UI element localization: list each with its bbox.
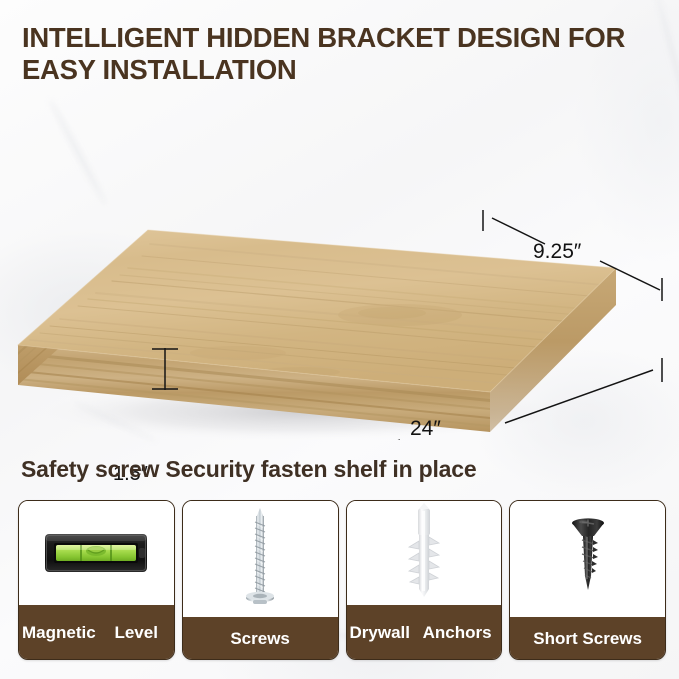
hardware-card-drywall-anchors[interactable]: Drywall Anchors (346, 500, 503, 660)
card-image-area (347, 501, 502, 605)
page-title-line-2: EASY INSTALLATION (22, 54, 667, 86)
page-title-line-1: INTELLIGENT HIDDEN BRACKET DESIGN FOR (22, 22, 667, 54)
card-image-area (510, 501, 665, 617)
card-label: Magnetic Level (19, 605, 174, 659)
card-label-line-1: Drywall (347, 623, 413, 642)
short-screw-icon (564, 514, 612, 604)
shelf-illustration: 9.25″ 24″ 1.5″ (0, 100, 679, 440)
section-subtitle: Safety screw Security fasten shelf in pl… (21, 456, 476, 483)
card-label-line-1: Screws (227, 629, 293, 648)
hardware-card-screws[interactable]: Screws (182, 500, 339, 660)
hardware-card-magnetic-level[interactable]: Magnetic Level (18, 500, 175, 660)
hardware-card-list: Magnetic Level (18, 500, 666, 665)
card-label: Drywall Anchors (347, 605, 502, 659)
card-label: Short Screws (510, 617, 665, 659)
card-label-line-1: Magnetic (19, 623, 99, 642)
dimension-width: 24″ (410, 417, 441, 441)
shelf-image (0, 100, 679, 440)
long-screw-icon (238, 506, 282, 612)
product-infographic: INTELLIGENT HIDDEN BRACKET DESIGN FOR EA… (0, 0, 679, 679)
hardware-card-short-screws[interactable]: Short Screws (509, 500, 666, 660)
card-label: Screws (183, 617, 338, 659)
dimension-depth: 9.25″ (533, 240, 581, 264)
magnetic-level-icon (44, 530, 148, 576)
card-image-area (183, 501, 338, 617)
card-label-line-2: Level (99, 623, 174, 642)
card-label-line-1: Short Screws (530, 629, 645, 648)
card-image-area (19, 501, 174, 605)
card-label-line-2: Anchors (413, 623, 501, 642)
page-title: INTELLIGENT HIDDEN BRACKET DESIGN FOR EA… (22, 22, 667, 86)
drywall-anchor-icon (401, 501, 447, 605)
